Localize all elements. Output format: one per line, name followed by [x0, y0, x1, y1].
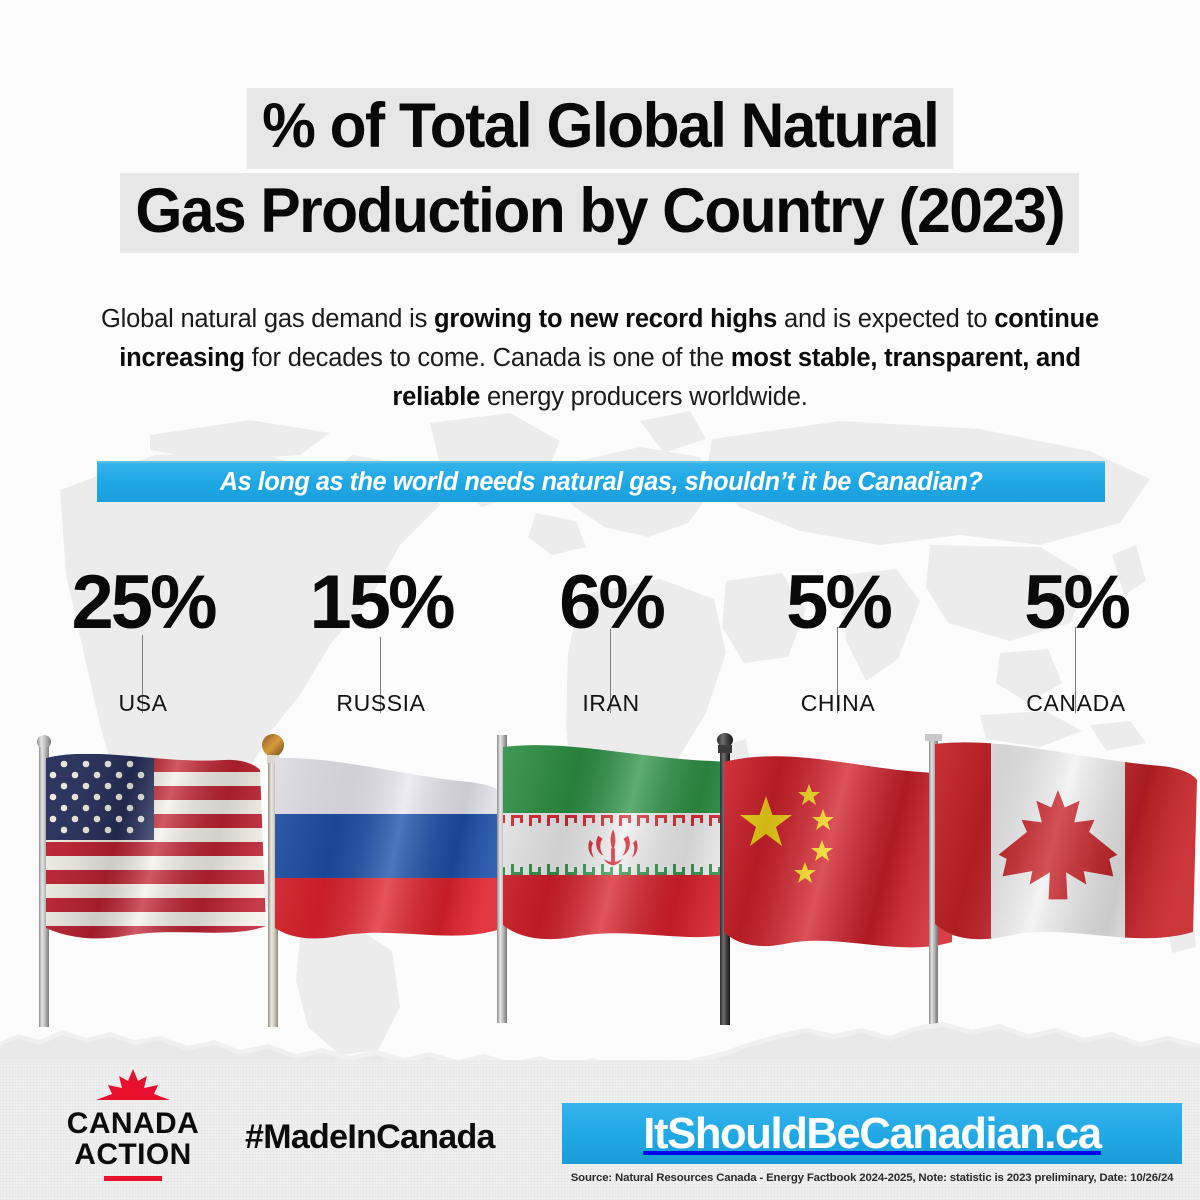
flag-unit-usa [28, 730, 278, 1035]
intro-bold-1: growing to new record highs [434, 305, 777, 333]
flag-unit-russia [255, 730, 505, 1035]
stat-china: 5%CHINA [718, 565, 958, 641]
hashtag-label: #MadeInCanada [245, 1118, 495, 1157]
website-url-text: ItShouldBeCanadian.ca [643, 1109, 1100, 1159]
source-citation: Source: Natural Resources Canada - Energ… [562, 1172, 1182, 1184]
logo-underline [104, 1176, 162, 1181]
intro-seg-4: energy producers worldwide. [480, 383, 807, 411]
maple-leaf-icon [96, 1068, 170, 1108]
intro-seg-2: and is expected to [777, 305, 994, 333]
intro-seg-1: Global natural gas demand is [101, 305, 434, 333]
flag-russia-icon [255, 730, 505, 1030]
title-line-2: Gas Production by Country (2023) [120, 173, 1080, 254]
flag-usa-icon [28, 730, 278, 1030]
logo-line-2: ACTION [38, 1140, 228, 1171]
intro-seg-3: for decades to come. Canada is one of th… [245, 344, 731, 372]
stat-canada: 5%CANADA [956, 565, 1196, 641]
stat-russia: 15%RUSSIA [261, 565, 501, 641]
page-title: % of Total Global Natural Gas Production… [0, 88, 1200, 253]
flag-unit-canada [915, 726, 1200, 1031]
flag-canada-icon [915, 726, 1200, 1026]
callout-banner-text: As long as the world needs natural gas, … [220, 468, 983, 497]
flags-row [0, 700, 1200, 1060]
website-url-button[interactable]: ItShouldBeCanadian.ca [562, 1103, 1182, 1164]
infographic-poster: % of Total Global Natural Gas Production… [0, 0, 1200, 1200]
logo-line-1: CANADA [38, 1109, 228, 1140]
intro-paragraph: Global natural gas demand is growing to … [100, 300, 1100, 416]
stat-value-russia: 15% [261, 565, 501, 641]
callout-banner: As long as the world needs natural gas, … [97, 461, 1105, 502]
canada-action-logo[interactable]: CANADA ACTION [38, 1068, 228, 1181]
title-line-1: % of Total Global Natural [247, 88, 954, 169]
stat-usa: 25%USA [23, 565, 263, 641]
stat-iran: 6%IRAN [491, 565, 731, 641]
stat-value-usa: 25% [23, 565, 263, 641]
